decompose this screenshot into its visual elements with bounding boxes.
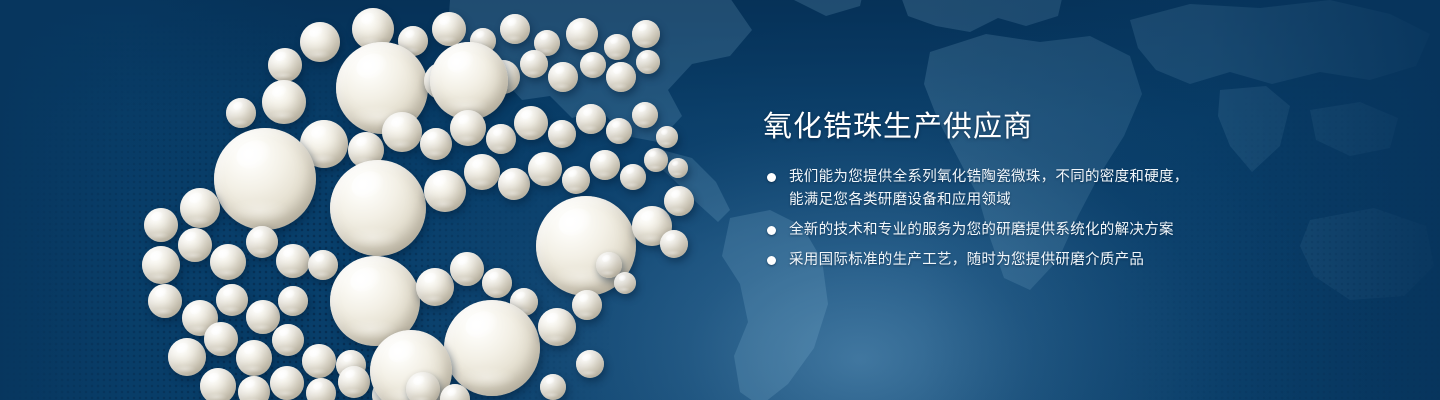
page-title: 氧化锆珠生产供应商 (763, 108, 1383, 146)
bullet-dot-icon (767, 226, 776, 235)
bullet-dot-icon (767, 256, 776, 265)
bullet-text: 采用国际标准的生产工艺，随时为您提供研磨介质产品 (789, 249, 1383, 272)
list-item: 采用国际标准的生产工艺，随时为您提供研磨介质产品 (763, 249, 1383, 272)
bullet-dot-icon (767, 173, 776, 182)
banner-copy: 氧化锆珠生产供应商 我们能为您提供全系列氧化锆陶瓷微珠，不同的密度和硬度， 能满… (763, 108, 1383, 272)
list-item: 全新的技术和专业的服务为您的研磨提供系统化的解决方案 (763, 219, 1383, 242)
bullet-text: 全新的技术和专业的服务为您的研磨提供系统化的解决方案 (789, 219, 1383, 242)
bullet-text: 我们能为您提供全系列氧化锆陶瓷微珠，不同的密度和硬度， (789, 166, 1383, 189)
feature-bullet-list: 我们能为您提供全系列氧化锆陶瓷微珠，不同的密度和硬度， 能满足您各类研磨设备和应… (763, 166, 1383, 272)
hero-banner: 氧化锆珠生产供应商 我们能为您提供全系列氧化锆陶瓷微珠，不同的密度和硬度， 能满… (0, 0, 1440, 400)
list-item: 我们能为您提供全系列氧化锆陶瓷微珠，不同的密度和硬度， 能满足您各类研磨设备和应… (763, 166, 1383, 212)
bullet-text: 能满足您各类研磨设备和应用领域 (789, 189, 1383, 212)
